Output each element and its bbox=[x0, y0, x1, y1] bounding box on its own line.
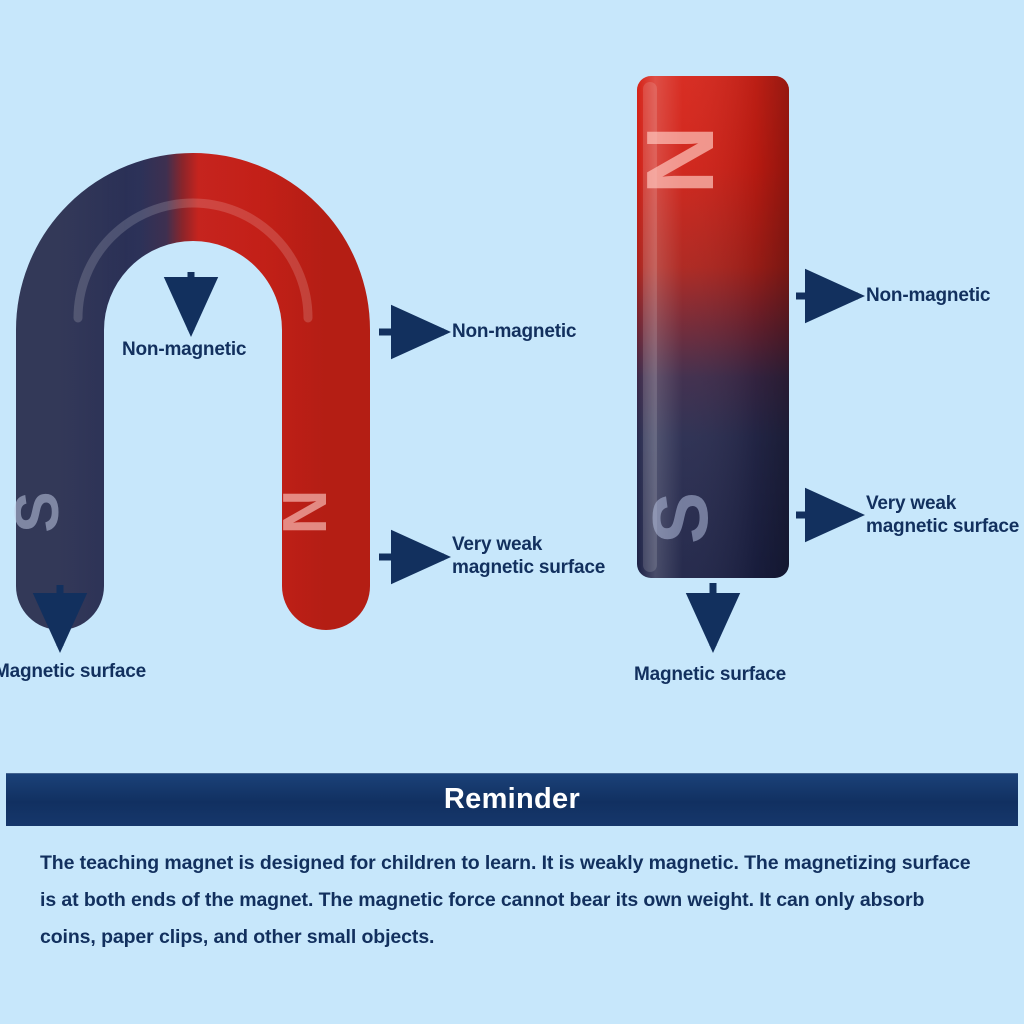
label-horseshoe-non-magnetic-inner: Non-magnetic bbox=[122, 338, 246, 361]
product-infographic: S N N S bbox=[0, 0, 1024, 1024]
magnet-illustration-svg: S N N S bbox=[0, 0, 1024, 770]
magnet-diagram: S N N S bbox=[0, 0, 1024, 770]
bar-magnet: N S bbox=[627, 76, 789, 578]
horseshoe-magnet: S N bbox=[3, 197, 340, 586]
label-bar-non-magnetic: Non-magnetic bbox=[866, 284, 990, 307]
label-horseshoe-non-magnetic-right: Non-magnetic bbox=[452, 320, 576, 343]
bar-north-pole-letter: N bbox=[627, 125, 734, 194]
label-horseshoe-very-weak-magnetic-surface: Very weak magnetic surface bbox=[452, 533, 605, 579]
label-horseshoe-magnetic-surface: Magnetic surface bbox=[0, 660, 146, 683]
horseshoe-south-pole-letter: S bbox=[3, 491, 72, 532]
reminder-body-text: The teaching magnet is designed for chil… bbox=[40, 845, 984, 956]
reminder-banner: Reminder bbox=[6, 773, 1018, 826]
bar-south-pole-letter: S bbox=[636, 492, 724, 544]
label-bar-magnetic-surface: Magnetic surface bbox=[634, 663, 786, 686]
reminder-title: Reminder bbox=[444, 783, 580, 816]
label-bar-very-weak-magnetic-surface: Very weak magnetic surface bbox=[866, 492, 1019, 538]
horseshoe-north-pole-letter: N bbox=[271, 490, 340, 535]
